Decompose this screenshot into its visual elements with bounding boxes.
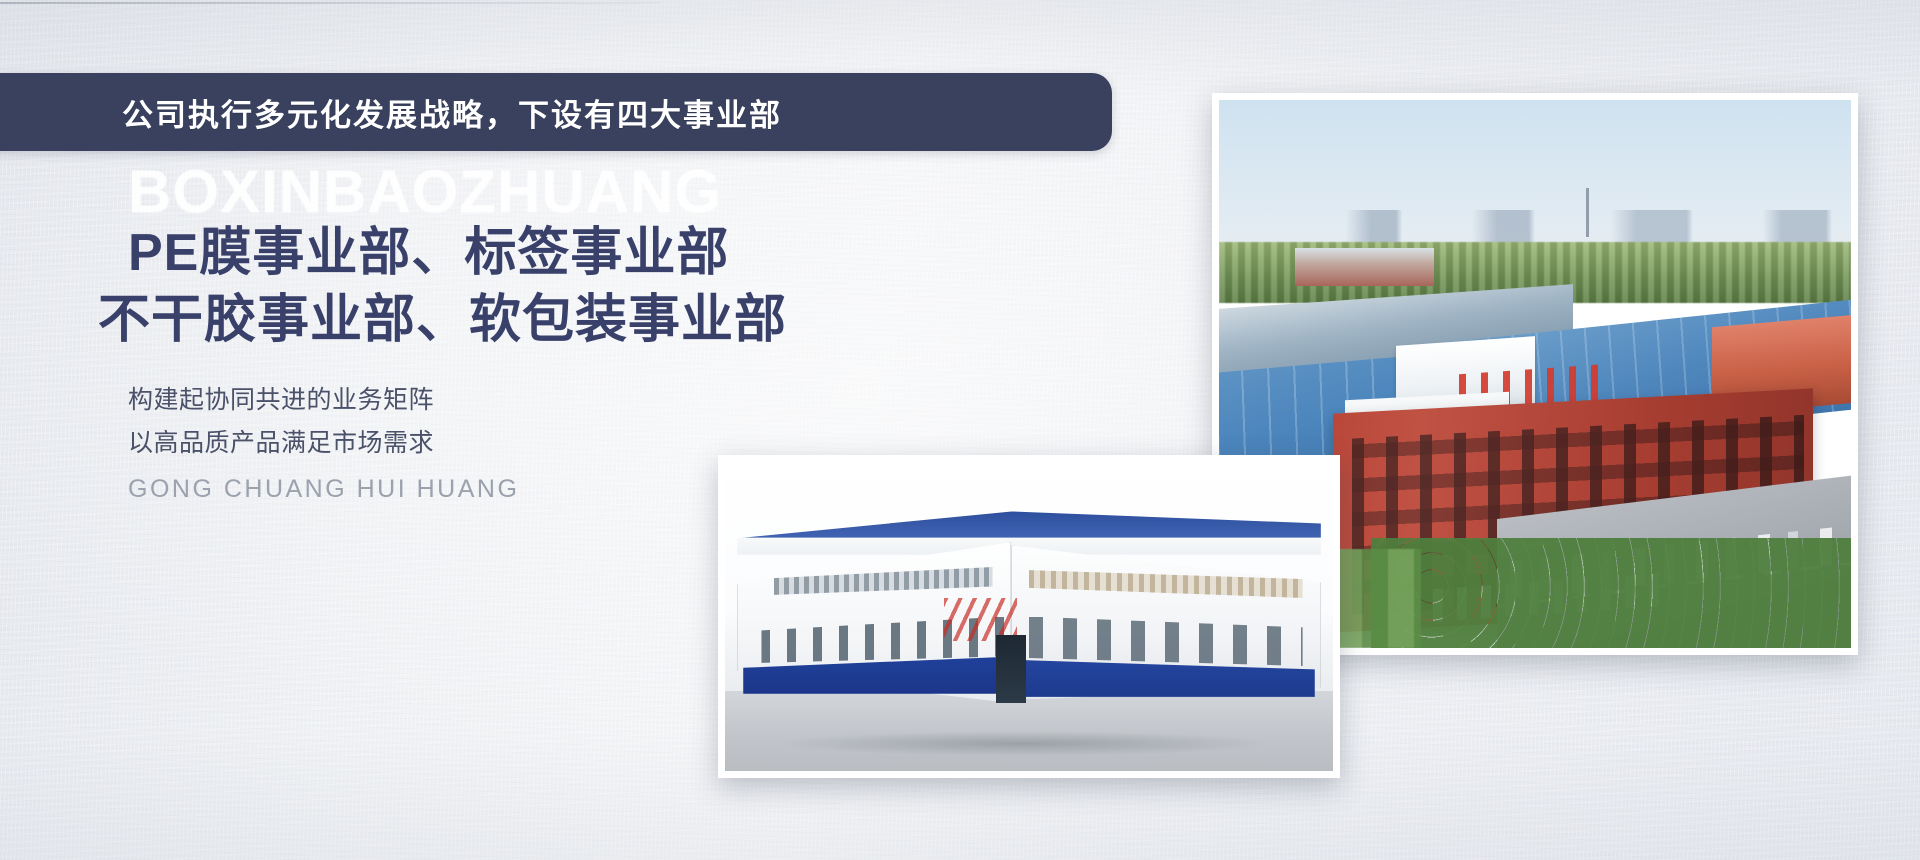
text-column: BOXINBAOZHUANG PE膜事业部、标签事业部 不干胶事业部、软包装事业… <box>128 168 948 504</box>
watermark-text: BOXINBAOZHUANG <box>128 162 722 222</box>
banner-stage: 公司执行多元化发展战略，下设有四大事业部 BOXINBAOZHUANG PE膜事… <box>0 0 1920 860</box>
aerial-midground-building <box>1295 248 1434 286</box>
top-hairline-divider <box>0 2 660 4</box>
aerial-foreground-trees <box>1371 538 1851 648</box>
factory-exterior-photo <box>718 455 1340 778</box>
headline-line-2: 不干胶事业部、软包装事业部 <box>98 287 948 354</box>
factory-exterior-photo-frame <box>725 462 1333 771</box>
headline-line-1: PE膜事业部、标签事业部 <box>128 220 948 287</box>
exterior-ground-shadow <box>774 731 1273 756</box>
exterior-main-door <box>996 635 1026 703</box>
tagline-line-1: 构建起协同共进的业务矩阵 <box>128 379 948 422</box>
headline: PE膜事业部、标签事业部 不干胶事业部、软包装事业部 <box>128 220 948 353</box>
ribbon-banner: 公司执行多元化发展战略，下设有四大事业部 <box>0 73 1112 151</box>
tagline: 构建起协同共进的业务矩阵 以高品质产品满足市场需求 <box>128 379 948 465</box>
ribbon-title: 公司执行多元化发展战略，下设有四大事业部 <box>122 90 782 135</box>
aerial-antenna-tower <box>1586 188 1589 237</box>
